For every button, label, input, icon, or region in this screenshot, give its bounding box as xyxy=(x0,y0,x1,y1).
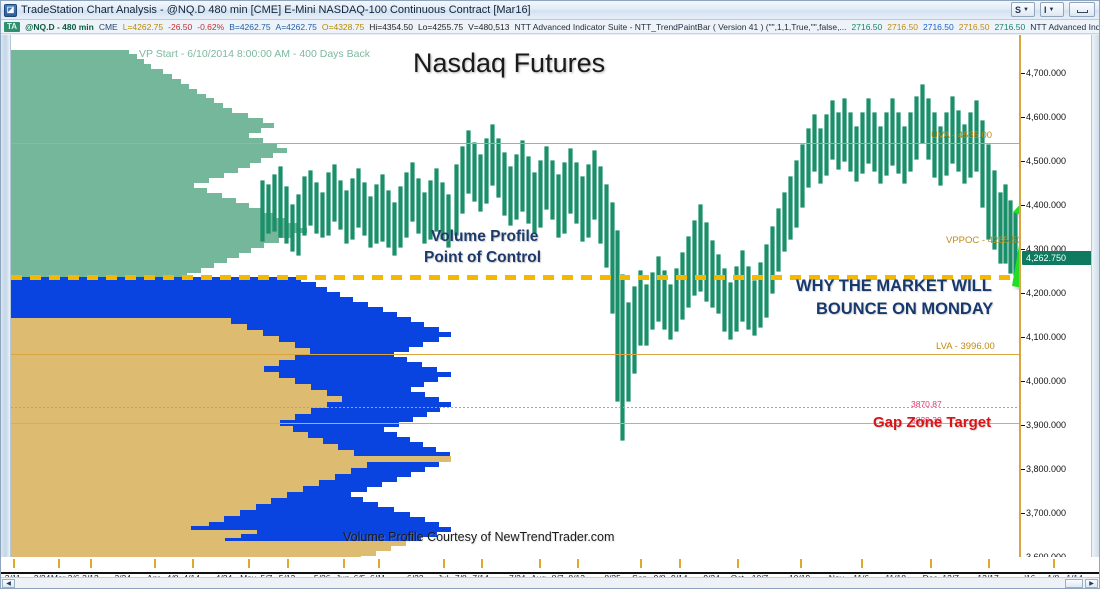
scrollbar-right-group: ▶ xyxy=(1065,579,1099,588)
date-tick-mark xyxy=(481,559,483,568)
date-tick-mark xyxy=(248,559,250,568)
price-tick: 4,100.000 xyxy=(1021,332,1066,342)
low-label: Lo=4255.75 xyxy=(418,22,463,32)
lva-label: LVA - 3996.00 xyxy=(936,341,995,352)
date-tick-mark xyxy=(343,559,345,568)
date-tick-mark xyxy=(679,559,681,568)
indicator-dropdown-label: I xyxy=(1044,5,1047,15)
style-dropdown-button[interactable]: S ▼ xyxy=(1011,2,1035,17)
bid-label: B=4262.75 xyxy=(229,22,270,32)
date-tick-mark xyxy=(737,559,739,568)
indicator-trailing-label: NTT Advanced Indicator : ... xyxy=(1030,22,1099,32)
scrollbar-thumb[interactable] xyxy=(1065,579,1083,588)
gap-zone-label: Gap Zone Target xyxy=(873,414,991,431)
poc-annotation-line1: Volume Profile xyxy=(431,227,538,247)
window-titlebar: ◪ TradeStation Chart Analysis - @NQ.D 48… xyxy=(1,1,1099,20)
date-tick-mark xyxy=(287,559,289,568)
gap-high-line xyxy=(11,407,1019,408)
date-tick-mark xyxy=(577,559,579,568)
indicator-value-5: 2716.50 xyxy=(994,22,1025,32)
candles-aug-crash xyxy=(587,151,714,440)
price-tick: 4,500.000 xyxy=(1021,156,1066,166)
date-tick-mark xyxy=(192,559,194,568)
date-tick-mark xyxy=(640,559,642,568)
chevron-down-icon: ▼ xyxy=(1023,7,1029,13)
uva-label: UVA - 4535.00 xyxy=(931,130,992,141)
indicator-status-line: TA @NQ.D - 480 min CME L=4262.75 -26.50 … xyxy=(1,20,1099,34)
bounce-arrow-icon xyxy=(1011,180,1019,290)
indicator-dropdown-button[interactable]: I ▼ xyxy=(1040,2,1064,17)
style-dropdown-label: S xyxy=(1015,5,1021,15)
callout-line1: WHY THE MARKET WILL xyxy=(796,275,992,298)
date-tick-mark xyxy=(13,559,15,568)
date-tick-mark xyxy=(1053,559,1055,568)
left-rail xyxy=(1,35,11,557)
ask-label: A=4262.75 xyxy=(276,22,317,32)
indicator-value-4: 2716.50 xyxy=(959,22,990,32)
scroll-left-icon[interactable]: ◀ xyxy=(2,579,15,588)
candles-sep-oct xyxy=(717,115,822,339)
chart-plot[interactable]: UVA - 4535.00 VPPOC - 4265.50 LVA - 3996… xyxy=(11,35,1019,557)
date-tick-mark xyxy=(988,559,990,568)
indicator-value-3: 2716.50 xyxy=(923,22,954,32)
window-controls: S ▼ I ▼ xyxy=(1011,2,1095,17)
open-label: O=4328.75 xyxy=(322,22,364,32)
current-price-tag: 4,262.750 xyxy=(1022,251,1096,265)
candles-jan-selloff xyxy=(969,101,1017,275)
minimize-button[interactable] xyxy=(1069,2,1095,17)
date-tick-mark xyxy=(154,559,156,568)
chart-title: Nasdaq Futures xyxy=(413,48,605,79)
indicator-value-1: 2716.50 xyxy=(852,22,883,32)
price-tick: 4,000.000 xyxy=(1021,376,1066,386)
callout-line2: BOUNCE ON MONDAY xyxy=(816,298,993,321)
chart-area: UVA - 4535.00 VPPOC - 4265.50 LVA - 3996… xyxy=(1,35,1099,588)
vp-start-label: VP Start - 6/10/2014 8:00:00 AM - 400 Da… xyxy=(139,48,370,60)
date-tick-mark xyxy=(930,559,932,568)
date-tick-mark xyxy=(800,559,802,568)
exchange-label: CME xyxy=(99,22,118,32)
price-tick: 4,200.000 xyxy=(1021,288,1066,298)
symbol-label[interactable]: @NQ.D - 480 min xyxy=(25,22,94,32)
right-rail xyxy=(1091,35,1099,557)
gap-high-value: 3870.87 xyxy=(911,399,942,409)
date-tick-mark xyxy=(378,559,380,568)
candle-group xyxy=(261,85,1017,440)
price-tick: 4,400.000 xyxy=(1021,200,1066,210)
minimize-icon xyxy=(1077,10,1088,13)
high-label: Hi=4354.50 xyxy=(369,22,413,32)
scroll-right-icon[interactable]: ▶ xyxy=(1085,579,1098,588)
date-tick-mark xyxy=(58,559,60,568)
uva-line xyxy=(11,143,1019,144)
date-tick-mark xyxy=(443,559,445,568)
price-tick: 4,600.000 xyxy=(1021,112,1066,122)
date-tick-mark xyxy=(90,559,92,568)
price-tick: 3,700.000 xyxy=(1021,508,1066,518)
change-percent-label: -0.62% xyxy=(197,22,224,32)
credit-label: Volume Profile Courtesy of NewTrendTrade… xyxy=(343,530,614,544)
date-axis[interactable]: 2/112/24Mar3/63/123/24Apr4/84/144/24May5… xyxy=(1,557,1099,588)
indicator-suite-label[interactable]: NTT Advanced Indicator Suite - NTT_Trend… xyxy=(514,22,846,32)
chevron-down-icon: ▼ xyxy=(1049,7,1055,13)
change-label: -26.50 xyxy=(168,22,192,32)
volume-label: V=480,513 xyxy=(468,22,509,32)
tradestation-window: ◪ TradeStation Chart Analysis - @NQ.D 48… xyxy=(0,0,1100,589)
candles-feb-apr xyxy=(261,163,450,255)
price-tick: 3,800.000 xyxy=(1021,464,1066,474)
poc-annotation-line2: Point of Control xyxy=(424,248,541,268)
price-tick: 4,700.000 xyxy=(1021,68,1066,78)
vppoc-label: VPPOC - 4265.50 xyxy=(946,235,1019,246)
scrollbar-track[interactable] xyxy=(16,579,1065,588)
price-axis[interactable]: 4,700.000 4,600.000 4,500.000 4,400.000 … xyxy=(1019,35,1099,557)
gap-low-line xyxy=(11,423,1019,424)
last-price-label: L=4262.75 xyxy=(123,22,163,32)
lva-line xyxy=(11,354,1019,355)
date-tick-mark xyxy=(861,559,863,568)
tradestation-icon: ◪ xyxy=(4,4,17,17)
horizontal-scrollbar[interactable]: ◀ ▶ xyxy=(1,577,1099,588)
date-tick-mark xyxy=(539,559,541,568)
ta-badge[interactable]: TA xyxy=(4,22,20,32)
window-title: TradeStation Chart Analysis - @NQ.D 480 … xyxy=(21,4,531,16)
price-tick: 3,900.000 xyxy=(1021,420,1066,430)
indicator-value-2: 2716.50 xyxy=(887,22,918,32)
